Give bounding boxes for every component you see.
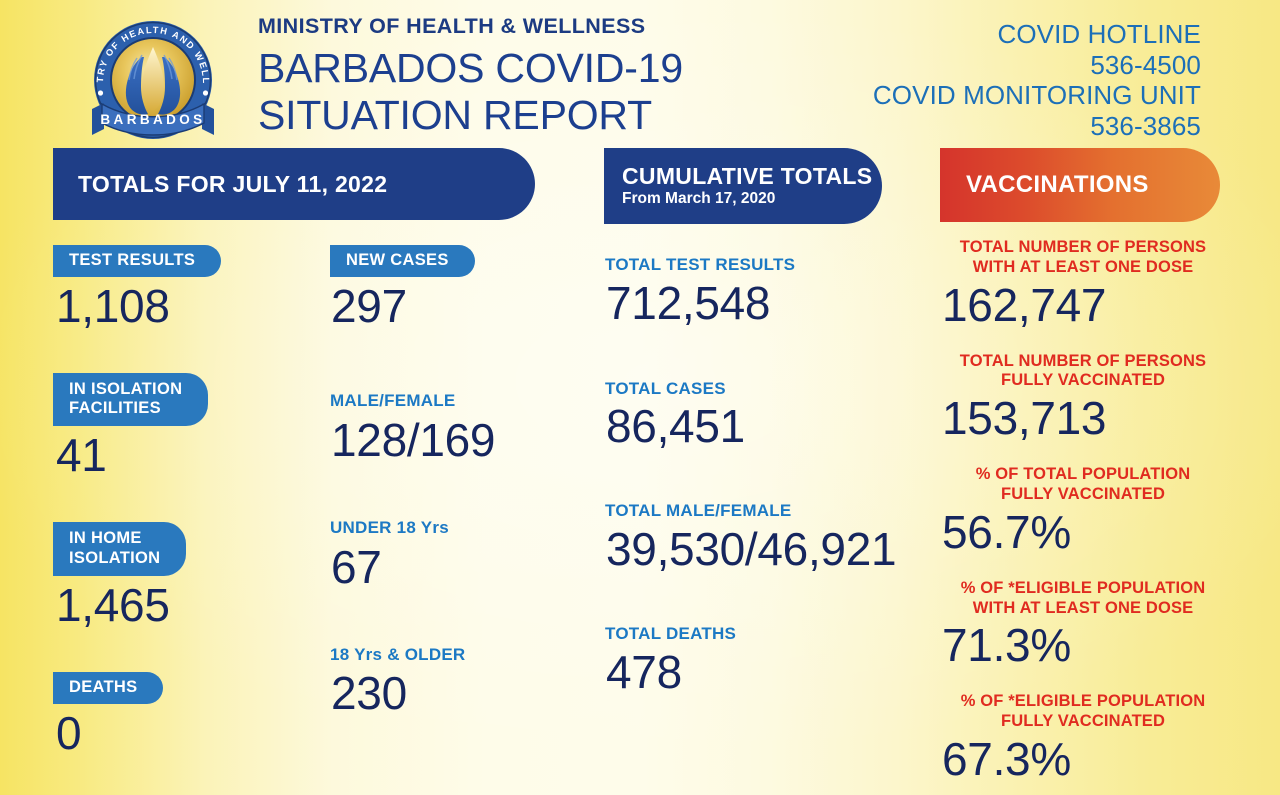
- stat-new-cases: NEW CASES 297: [330, 245, 590, 329]
- stat-pct-eligible-one-dose: % OF *ELIGIBLE POPULATION WITH AT LEAST …: [938, 579, 1228, 669]
- stat-in-home-isolation-value: 1,465: [56, 582, 303, 628]
- spacer: [330, 590, 590, 645]
- label-line-1: TOTAL NUMBER OF PERSONS: [960, 238, 1206, 256]
- cumulative-totals-banner-sublabel: From March 17, 2020: [622, 190, 882, 208]
- stat-deaths-label: DEATHS: [53, 672, 163, 704]
- monitoring-unit-number[interactable]: 536-3865: [873, 111, 1201, 142]
- stat-18-and-older-value: 230: [331, 670, 590, 716]
- stat-total-cases-label: TOTAL CASES: [605, 379, 925, 399]
- hotline-label: COVID HOTLINE: [873, 19, 1201, 50]
- spacer: [330, 329, 590, 391]
- stat-pct-total-population-fully-vaccinated-value: 56.7%: [942, 509, 1228, 555]
- stat-pct-total-population-fully-vaccinated-label: % OF TOTAL POPULATION FULLY VACCINATED: [938, 465, 1228, 505]
- stat-total-male-female-value: 39,530/46,921: [606, 526, 925, 572]
- stat-under-18: UNDER 18 Yrs 67: [330, 518, 590, 590]
- stat-under-18-label: UNDER 18 Yrs: [330, 518, 590, 538]
- stat-at-least-one-dose: TOTAL NUMBER OF PERSONS WITH AT LEAST ON…: [938, 238, 1228, 328]
- stat-male-female: MALE/FEMALE 128/169: [330, 391, 590, 463]
- monitoring-unit-label: COVID MONITORING UNIT: [873, 80, 1201, 111]
- daily-left-column: TEST RESULTS 1,108 IN ISOLATION FACILITI…: [53, 245, 303, 756]
- stat-under-18-value: 67: [331, 544, 590, 590]
- stat-pct-eligible-fully-vaccinated-value: 67.3%: [942, 736, 1228, 782]
- stat-fully-vaccinated: TOTAL NUMBER OF PERSONS FULLY VACCINATED…: [938, 352, 1228, 442]
- ministry-name: MINISTRY OF HEALTH & WELLNESS: [258, 16, 778, 38]
- spacer: [330, 463, 590, 518]
- cumulative-totals-column: TOTAL TEST RESULTS 712,548 TOTAL CASES 8…: [605, 255, 925, 695]
- stat-pct-eligible-one-dose-value: 71.3%: [942, 622, 1228, 668]
- stat-total-cases: TOTAL CASES 86,451: [605, 379, 925, 450]
- stat-in-home-isolation-label: IN HOME ISOLATION: [53, 522, 186, 575]
- label-line-2: FULLY VACCINATED: [1001, 485, 1165, 503]
- cumulative-totals-banner: CUMULATIVE TOTALS From March 17, 2020: [604, 148, 882, 224]
- covid-hotline-block: COVID HOTLINE 536-4500 COVID MONITORING …: [873, 19, 1201, 142]
- spacer: [605, 572, 925, 624]
- label-line-2: FULLY VACCINATED: [1001, 371, 1165, 389]
- daily-right-column: NEW CASES 297 MALE/FEMALE 128/169 UNDER …: [330, 245, 590, 716]
- svg-text:BARBADOS: BARBADOS: [100, 112, 205, 127]
- situation-report-page: MINISTRY OF HEALTH AND WELLNESS: [0, 0, 1280, 795]
- spacer: [53, 329, 303, 373]
- label-line-2: FACILITIES: [69, 399, 161, 417]
- cumulative-totals-banner-label: CUMULATIVE TOTALS: [622, 164, 882, 188]
- page-title-line-1: BARBADOS COVID-19: [258, 45, 778, 93]
- stat-total-cases-value: 86,451: [606, 403, 925, 449]
- vaccinations-column: TOTAL NUMBER OF PERSONS WITH AT LEAST ON…: [938, 238, 1228, 782]
- vaccinations-banner: VACCINATIONS: [940, 148, 1220, 222]
- stat-18-and-older-label: 18 Yrs & OLDER: [330, 645, 590, 665]
- spacer: [605, 326, 925, 379]
- stat-new-cases-label: NEW CASES: [330, 245, 475, 277]
- stat-fully-vaccinated-value: 153,713: [942, 395, 1228, 441]
- stat-total-male-female: TOTAL MALE/FEMALE 39,530/46,921: [605, 501, 925, 572]
- logo-seal-icon: MINISTRY OF HEALTH AND WELLNESS: [86, 17, 220, 143]
- label-line-2: FULLY VACCINATED: [1001, 712, 1165, 730]
- label-line-1: % OF *ELIGIBLE POPULATION: [961, 579, 1206, 597]
- daily-totals-banner: TOTALS FOR JULY 11, 2022: [53, 148, 535, 220]
- stat-total-test-results-value: 712,548: [606, 280, 925, 326]
- stat-male-female-label: MALE/FEMALE: [330, 391, 590, 411]
- stat-deaths: DEATHS 0: [53, 672, 303, 756]
- daily-totals-banner-label: TOTALS FOR JULY 11, 2022: [78, 172, 535, 196]
- stat-male-female-value: 128/169: [331, 417, 590, 463]
- page-title: BARBADOS COVID-19 SITUATION REPORT: [258, 45, 778, 141]
- spacer: [938, 555, 1228, 579]
- label-line-1: % OF TOTAL POPULATION: [976, 465, 1191, 483]
- label-line-1: TOTAL NUMBER OF PERSONS: [960, 352, 1206, 370]
- hotline-number[interactable]: 536-4500: [873, 50, 1201, 81]
- stat-total-deaths-value: 478: [606, 649, 925, 695]
- stat-pct-eligible-one-dose-label: % OF *ELIGIBLE POPULATION WITH AT LEAST …: [938, 579, 1228, 619]
- stat-total-test-results-label: TOTAL TEST RESULTS: [605, 255, 925, 275]
- stat-test-results-label: TEST RESULTS: [53, 245, 221, 277]
- stat-in-isolation-facilities-value: 41: [56, 432, 303, 478]
- label-line-1: % OF *ELIGIBLE POPULATION: [961, 692, 1206, 710]
- stat-deaths-value: 0: [56, 710, 303, 756]
- stat-fully-vaccinated-label: TOTAL NUMBER OF PERSONS FULLY VACCINATED: [938, 352, 1228, 392]
- stat-in-home-isolation: IN HOME ISOLATION 1,465: [53, 522, 303, 627]
- label-line-2: ISOLATION: [69, 549, 160, 567]
- ministry-of-health-logo: MINISTRY OF HEALTH AND WELLNESS: [86, 17, 220, 143]
- stat-test-results-value: 1,108: [56, 283, 303, 329]
- stat-total-deaths: TOTAL DEATHS 478: [605, 624, 925, 695]
- stat-18-and-older: 18 Yrs & OLDER 230: [330, 645, 590, 717]
- label-line-2: WITH AT LEAST ONE DOSE: [973, 599, 1194, 617]
- label-line-1: IN ISOLATION: [69, 380, 182, 398]
- stat-test-results: TEST RESULTS 1,108: [53, 245, 303, 329]
- stat-new-cases-value: 297: [331, 283, 590, 329]
- spacer: [938, 328, 1228, 352]
- stat-pct-eligible-fully-vaccinated-label: % OF *ELIGIBLE POPULATION FULLY VACCINAT…: [938, 692, 1228, 732]
- stat-pct-eligible-fully-vaccinated: % OF *ELIGIBLE POPULATION FULLY VACCINAT…: [938, 692, 1228, 782]
- vaccinations-banner-label: VACCINATIONS: [966, 172, 1220, 197]
- header-titles: MINISTRY OF HEALTH & WELLNESS BARBADOS C…: [258, 16, 778, 140]
- spacer: [938, 441, 1228, 465]
- page-title-line-2: SITUATION REPORT: [258, 92, 778, 140]
- spacer: [53, 628, 303, 672]
- stat-total-deaths-label: TOTAL DEATHS: [605, 624, 925, 644]
- stat-in-isolation-facilities: IN ISOLATION FACILITIES 41: [53, 373, 303, 478]
- stat-total-test-results: TOTAL TEST RESULTS 712,548: [605, 255, 925, 326]
- spacer: [605, 449, 925, 501]
- label-line-1: IN HOME: [69, 529, 142, 547]
- stat-pct-total-population-fully-vaccinated: % OF TOTAL POPULATION FULLY VACCINATED 5…: [938, 465, 1228, 555]
- stat-at-least-one-dose-label: TOTAL NUMBER OF PERSONS WITH AT LEAST ON…: [938, 238, 1228, 278]
- stat-total-male-female-label: TOTAL MALE/FEMALE: [605, 501, 925, 521]
- spacer: [938, 668, 1228, 692]
- report-header: MINISTRY OF HEALTH AND WELLNESS: [0, 0, 1280, 145]
- spacer: [53, 478, 303, 522]
- stat-in-isolation-facilities-label: IN ISOLATION FACILITIES: [53, 373, 208, 426]
- stat-at-least-one-dose-value: 162,747: [942, 282, 1228, 328]
- label-line-2: WITH AT LEAST ONE DOSE: [973, 258, 1194, 276]
